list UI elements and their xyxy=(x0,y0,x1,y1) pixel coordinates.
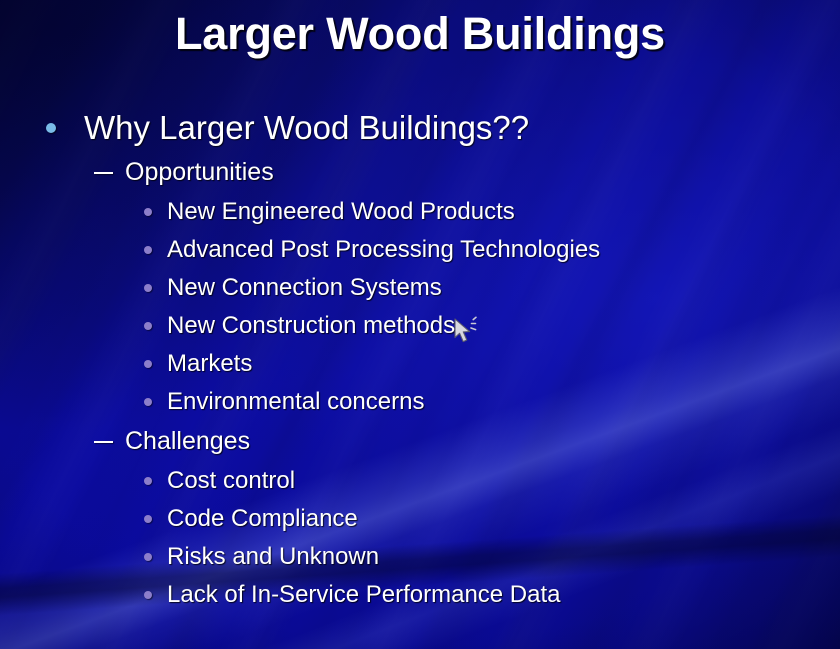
bullet-item-label: New Construction methods xyxy=(167,307,455,345)
bullet-item-level-2: Challenges xyxy=(0,421,840,462)
bullet-item-level-3: New Connection Systems xyxy=(0,269,840,307)
bullet-item-level-3: New Construction methods xyxy=(0,307,840,345)
bullet-dot-icon xyxy=(46,123,56,133)
slide-title: Larger Wood Buildings xyxy=(0,8,840,60)
bullet-item-level-3: Cost control xyxy=(0,462,840,500)
bullet-item-level-3: Markets xyxy=(0,345,840,383)
bullet-dash-icon xyxy=(94,441,113,443)
bullet-item-level-1: Why Larger Wood Buildings?? xyxy=(0,103,840,152)
bullet-item-level-3: Environmental concerns xyxy=(0,383,840,421)
bullet-item-level-3: New Engineered Wood Products xyxy=(0,193,840,231)
bullet-dot-icon xyxy=(144,398,152,406)
bullet-item-label: Risks and Unknown xyxy=(167,538,379,576)
bullet-item-label: Opportunities xyxy=(125,152,274,193)
bullet-item-label: Environmental concerns xyxy=(167,383,424,421)
bullet-dot-icon xyxy=(144,515,152,523)
presentation-slide: Larger Wood Buildings Why Larger Wood Bu… xyxy=(0,0,840,649)
bullet-item-label: Challenges xyxy=(125,421,250,462)
bullet-item-label: Advanced Post Processing Technologies xyxy=(167,231,600,269)
bullet-item-level-2: Opportunities xyxy=(0,152,840,193)
bullet-item-level-3: Advanced Post Processing Technologies xyxy=(0,231,840,269)
bullet-item-label: Lack of In-Service Performance Data xyxy=(167,576,561,614)
bullet-item-label: Code Compliance xyxy=(167,500,358,538)
bullet-item-level-3: Risks and Unknown xyxy=(0,538,840,576)
bullet-item-label: Cost control xyxy=(167,462,295,500)
bullet-dot-icon xyxy=(144,208,152,216)
bullet-item-label: Markets xyxy=(167,345,252,383)
bullet-dot-icon xyxy=(144,477,152,485)
bullet-item-label: Why Larger Wood Buildings?? xyxy=(84,103,529,152)
bullet-item-level-3: Lack of In-Service Performance Data xyxy=(0,576,840,614)
bullet-item-label: New Connection Systems xyxy=(167,269,442,307)
bullet-dot-icon xyxy=(144,246,152,254)
bullet-dot-icon xyxy=(144,284,152,292)
bullet-item-label: New Engineered Wood Products xyxy=(167,193,515,231)
bullet-dot-icon xyxy=(144,553,152,561)
bullet-dot-icon xyxy=(144,360,152,368)
bullet-dot-icon xyxy=(144,591,152,599)
slide-body-list: Why Larger Wood Buildings??Opportunities… xyxy=(0,103,840,614)
bullet-dot-icon xyxy=(144,322,152,330)
bullet-item-level-3: Code Compliance xyxy=(0,500,840,538)
bullet-dash-icon xyxy=(94,172,113,174)
